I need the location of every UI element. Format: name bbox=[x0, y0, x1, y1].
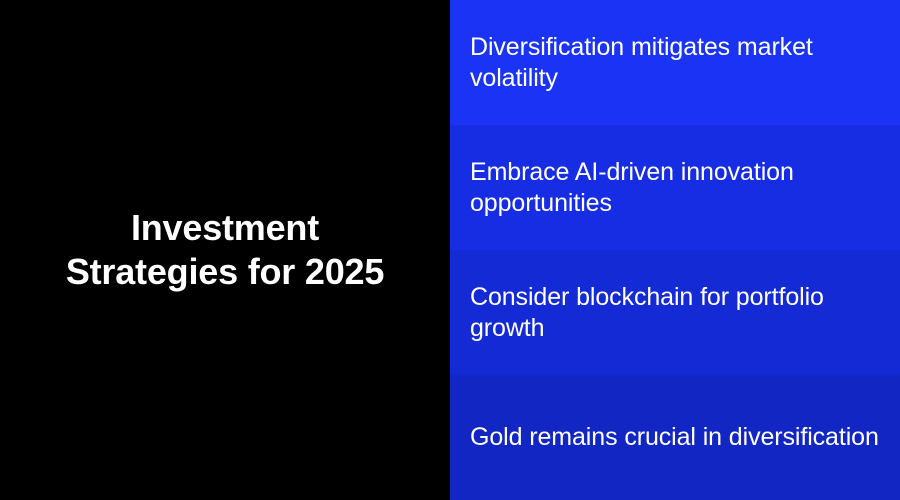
slide-root: Investment Strategies for 2025 Diversifi… bbox=[0, 0, 900, 500]
list-item-label: Consider blockchain for portfolio growth bbox=[470, 282, 882, 343]
page-title: Investment Strategies for 2025 bbox=[66, 206, 384, 294]
list-item[interactable]: Embrace AI-driven innovation opportuniti… bbox=[450, 125, 900, 250]
title-pane: Investment Strategies for 2025 bbox=[0, 0, 450, 500]
list-item-label: Diversification mitigates market volatil… bbox=[470, 32, 882, 93]
list-item[interactable]: Gold remains crucial in diversification bbox=[450, 375, 900, 500]
list-item[interactable]: Consider blockchain for portfolio growth bbox=[450, 250, 900, 375]
list-item-label: Gold remains crucial in diversification bbox=[470, 422, 879, 453]
list-item[interactable]: Diversification mitigates market volatil… bbox=[450, 0, 900, 125]
list-item-label: Embrace AI-driven innovation opportuniti… bbox=[470, 157, 882, 218]
key-points-list: Diversification mitigates market volatil… bbox=[450, 0, 900, 500]
